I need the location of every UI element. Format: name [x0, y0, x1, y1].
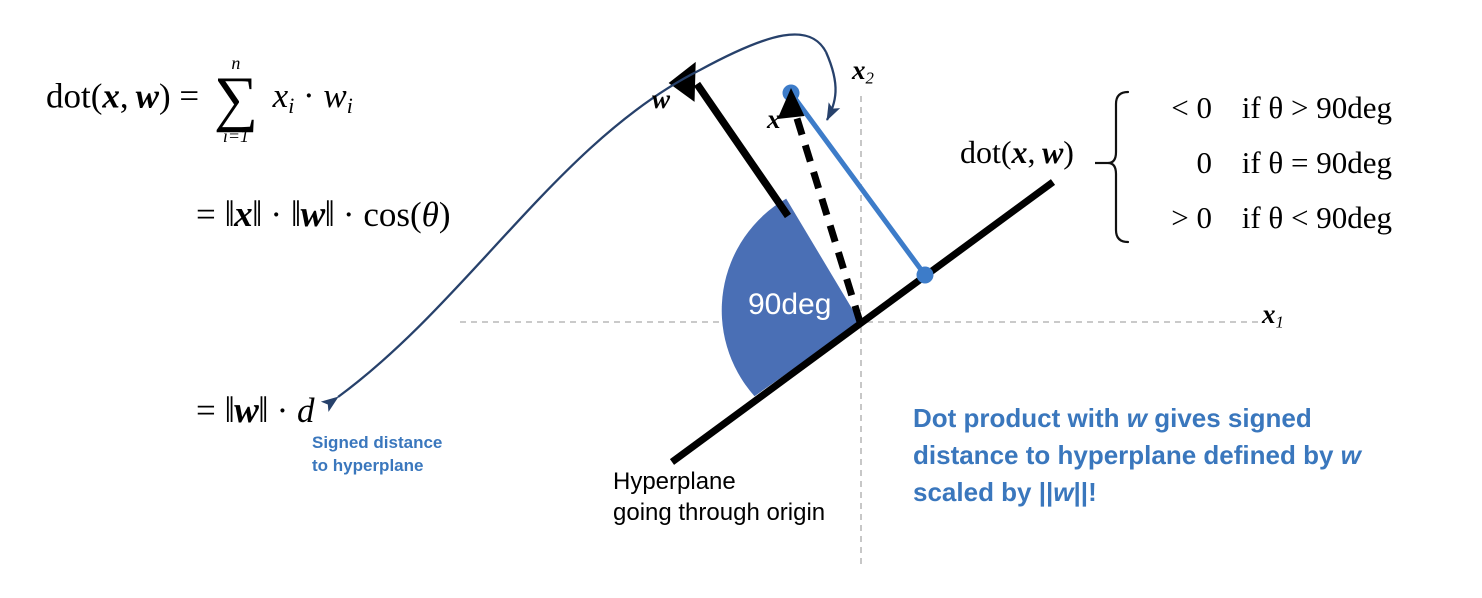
cases-condition: if θ > 90deg	[1242, 80, 1392, 135]
label-hyperplane-caption: Hyperplane going through origin	[613, 466, 825, 528]
hyperplane-caption-line1: Hyperplane	[613, 466, 825, 497]
cases-row: > 0 if θ < 90deg	[1150, 190, 1392, 245]
conclusion-part3: scaled by ||	[913, 477, 1053, 507]
conclusion-var1: w	[1127, 403, 1147, 433]
equation-norm-w-d: = ‖w‖ · d	[196, 392, 315, 429]
eq2-norm-x: ‖x‖	[225, 194, 262, 235]
eq2-cos: cos(θ)	[363, 195, 450, 234]
label-axis-x2: x2	[852, 55, 874, 89]
cases-row: < 0 if θ > 90deg	[1150, 80, 1392, 135]
cases-value: > 0	[1150, 190, 1212, 245]
callout-curve-arrow-tail	[826, 52, 836, 120]
signed-caption-line2: to hyperplane	[312, 455, 512, 478]
slide-canvas: dot(x, w) = n ∑ i=1 xi · wi = ‖x‖ · ‖w‖ …	[0, 0, 1482, 598]
eq2-norm-w: ‖w‖	[291, 194, 334, 235]
sum-lower-limit: i=1	[208, 127, 264, 145]
cases-value: < 0	[1150, 80, 1212, 135]
eq1-equals: =	[179, 76, 199, 115]
cases-condition: if θ < 90deg	[1242, 190, 1392, 245]
label-vector-x: x	[767, 104, 781, 135]
eq3-equals: =	[196, 391, 216, 430]
eq2-equals: =	[196, 195, 216, 234]
cases-value: 0	[1150, 135, 1212, 190]
cases-rows: < 0 if θ > 90deg 0 if θ = 90deg > 0 if θ…	[1150, 80, 1392, 245]
eq3-norm-w: ‖w‖	[225, 390, 268, 431]
eq1-terms: xi · wi	[273, 76, 353, 115]
hyperplane-caption-line2: going through origin	[613, 497, 825, 528]
summation-operator: n ∑ i=1	[208, 74, 264, 125]
cases-label: dot(x, w)	[960, 134, 1074, 171]
conclusion-part4: ||!	[1074, 477, 1097, 507]
sum-upper-limit: n	[208, 54, 264, 72]
cases-condition: if θ = 90deg	[1242, 135, 1392, 190]
conclusion-text: Dot product with w gives signed distance…	[913, 400, 1413, 511]
cases-brace	[1108, 92, 1128, 242]
signed-distance-caption: Signed distance to hyperplane	[312, 432, 512, 478]
conclusion-var3: w	[1053, 477, 1073, 507]
label-axis-x1: x1	[1262, 299, 1284, 333]
eq3-d: d	[297, 391, 315, 430]
label-angle-90deg: 90deg	[748, 288, 831, 322]
vector-w	[669, 56, 788, 216]
conclusion-part1: Dot product with	[913, 403, 1127, 433]
eq1-lhs: dot(x, w)	[46, 76, 179, 115]
cases-row: 0 if θ = 90deg	[1150, 135, 1392, 190]
label-vector-w: w	[652, 84, 670, 115]
equation-dot-sum: dot(x, w) = n ∑ i=1 xi · wi	[46, 74, 353, 125]
point-projection-marker	[917, 267, 934, 284]
equation-norm-cos: = ‖x‖ · ‖w‖ · cos(θ)	[196, 196, 450, 233]
conclusion-var2: w	[1341, 440, 1361, 470]
signed-caption-line1: Signed distance	[312, 432, 512, 455]
